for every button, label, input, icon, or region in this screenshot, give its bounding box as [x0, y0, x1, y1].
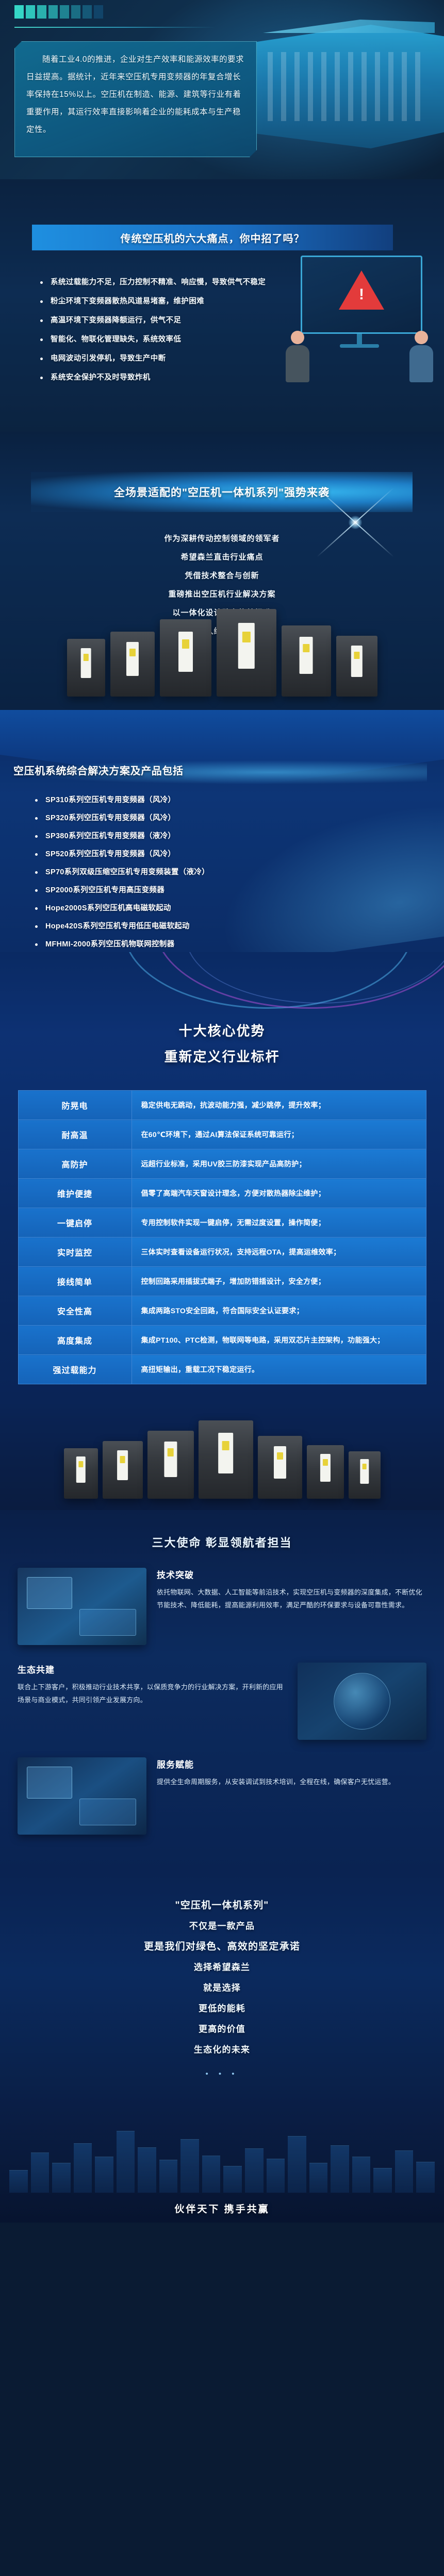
drive-unit — [67, 639, 105, 697]
drive-unit — [349, 1451, 381, 1499]
advantage-row: 耐高温在60℃环境下，通过AI算法保证系统可靠运行； — [18, 1120, 426, 1149]
pain-points-section: 传统空压机的六大痛点，你中招了吗？ 系统过载能力不足，压力控制不精准、响应慢，导… — [0, 179, 444, 432]
mission-heading: 技术突破 — [157, 1568, 426, 1581]
mission-image — [18, 1757, 146, 1835]
globe-icon — [334, 1673, 390, 1730]
mission-body: 提供全生命周期服务，从安装调试到技术培训，全程在线，确保客户无忧运营。 — [157, 1775, 426, 1788]
panel-icon — [79, 1799, 136, 1825]
person-listener — [408, 331, 435, 382]
decor-bar-2 — [37, 5, 46, 19]
mission-block: 技术突破依托物联网、大数据、人工智能等前沿技术，实现空压机与变频器的深度集成，不… — [18, 1568, 426, 1645]
pain-points-title-banner: 传统空压机的六大痛点，你中招了吗？ — [32, 225, 393, 250]
advantages-heading-line2: 重新定义行业标杆 — [0, 1044, 444, 1070]
drive-unit — [147, 1431, 194, 1499]
drive-unit — [160, 619, 211, 697]
building-silhouette — [202, 2156, 221, 2193]
series-tagline: 作为深耕传动控制领域的领军者 — [0, 530, 444, 548]
divider-line — [14, 27, 216, 28]
advantage-key: 强过载能力 — [18, 1355, 131, 1384]
drive-unit — [103, 1441, 143, 1499]
building-silhouette — [331, 2145, 349, 2193]
person-body — [286, 345, 309, 382]
compressor-illustration — [243, 25, 444, 148]
mission-image — [18, 1568, 146, 1645]
drive-unit — [307, 1445, 344, 1499]
product-model-item: SP310系列空压机专用变频器（风冷） — [31, 791, 413, 809]
panel-icon — [79, 1609, 136, 1636]
product-list-title-wrap: 空压机系统综合解决方案及产品包括 — [0, 762, 444, 777]
series-tagline: 希望森兰直击行业痛点 — [0, 548, 444, 567]
building-silhouette — [288, 2136, 306, 2193]
advantages-heading: 十大核心优势 重新定义行业标杆 — [0, 952, 444, 1070]
decor-bar-0 — [14, 5, 24, 19]
warning-illustration — [282, 256, 437, 384]
drive-unit — [336, 636, 377, 697]
infographic-page: 随着工业4.0的推进，企业对生产效率和能源效率的要求日益提高。据统计，近年来空压… — [0, 0, 444, 2223]
person-head — [291, 331, 304, 344]
advantage-value: 远超行业标准，采用UV胶三防漆实现产品高防护； — [131, 1149, 426, 1179]
building-silhouette — [373, 2168, 392, 2193]
closing-line: 更高的价值 — [0, 2019, 444, 2040]
closing-line: 更低的能耗 — [0, 1998, 444, 2019]
product-list-title: 空压机系统综合解决方案及产品包括 — [0, 762, 444, 777]
building-silhouette — [74, 2143, 92, 2193]
decor-bars — [14, 5, 103, 19]
advantage-key: 实时监控 — [18, 1238, 131, 1267]
drive-unit — [258, 1436, 302, 1499]
mission-block: 服务赋能提供全生命周期服务，从安装调试到技术培训，全程在线，确保客户无忧运营。 — [18, 1757, 426, 1835]
series-intro-section: 全场景适配的"空压机一体机系列"强势来袭 作为深耕传动控制领域的领军者希望森兰直… — [0, 432, 444, 710]
missions-section: 三大使命 彰显领航者担当 技术突破依托物联网、大数据、人工智能等前沿技术，实现空… — [0, 1510, 444, 1873]
advantage-value: 集成两路STO安全回路，符合国际安全认证要求； — [131, 1296, 426, 1326]
advantage-key: 一键启停 — [18, 1208, 131, 1238]
mission-text: 生态共建联合上下游客户，积极推动行业技术共享，以保质竞争力的行业解决方案，开利新… — [18, 1663, 287, 1706]
presentation-screen — [301, 256, 422, 334]
mission-image — [298, 1663, 426, 1740]
building-silhouette — [245, 2148, 264, 2193]
closing-line: 就是选择 — [0, 1978, 444, 1998]
closing-line: "空压机一体机系列" — [0, 1895, 444, 1916]
panel-icon — [27, 1767, 72, 1799]
advantage-row: 接线简单控制回路采用插拔式端子，增加防错插设计，安全方便； — [18, 1267, 426, 1296]
mission-body: 依托物联网、大数据、人工智能等前沿技术，实现空压机与变频器的深度集成，不断优化节… — [157, 1586, 426, 1612]
compressor-roof — [248, 20, 435, 33]
building-silhouette — [416, 2162, 435, 2193]
advantage-value: 三体实时查看设备运行状况，支持远程OTA，提高运维效率； — [131, 1238, 426, 1267]
drive-unit — [217, 609, 276, 697]
series-title: 全场景适配的"空压机一体机系列"强势来袭 — [114, 484, 330, 500]
screen-stand — [357, 334, 362, 345]
advantages-heading-line1: 十大核心优势 — [0, 1018, 444, 1044]
building-silhouette — [31, 2153, 50, 2193]
advantage-key: 维护便捷 — [18, 1179, 131, 1208]
decor-bar-5 — [71, 5, 80, 19]
mission-text: 服务赋能提供全生命周期服务，从安装调试到技术培训，全程在线，确保客户无忧运营。 — [157, 1757, 426, 1788]
advantage-value: 高扭矩输出，重载工况下稳定运行。 — [131, 1355, 426, 1384]
advantage-value: 控制回路采用插拔式端子，增加防错插设计，安全方便； — [131, 1267, 426, 1296]
series-title-banner: 全场景适配的"空压机一体机系列"强势来袭 — [31, 472, 413, 512]
decor-bar-3 — [48, 5, 58, 19]
mission-block: 生态共建联合上下游客户，积极推动行业技术共享，以保质竞争力的行业解决方案，开利新… — [18, 1663, 426, 1740]
building-silhouette — [180, 2139, 199, 2193]
building-silhouette — [309, 2163, 328, 2193]
advantage-value: 稳定供电无跳动，抗波动能力强，减少跳停，提升效率； — [131, 1091, 426, 1120]
advantage-row: 安全性高集成两路STO安全回路，符合国际安全认证要求； — [18, 1296, 426, 1326]
advantage-key: 高度集成 — [18, 1326, 131, 1355]
person-head — [415, 331, 428, 344]
drive-unit — [282, 625, 331, 697]
product-lineup-section — [0, 1402, 444, 1510]
advantage-row: 维护便捷倡零了高端汽车天窗设计理念，方便对散热器除尘维护； — [18, 1179, 426, 1208]
building-silhouette — [223, 2166, 242, 2193]
mission-text: 技术突破依托物联网、大数据、人工智能等前沿技术，实现空压机与变频器的深度集成，不… — [157, 1568, 426, 1612]
closing-line: 更是我们对绿色、高效的坚定承诺 — [0, 1937, 444, 1957]
intro-paragraph: 随着工业4.0的推进，企业对生产效率和能源效率的要求日益提高。据统计，近年来空压… — [26, 51, 245, 139]
intro-card: 随着工业4.0的推进，企业对生产效率和能源效率的要求日益提高。据统计，近年来空压… — [14, 41, 257, 157]
decor-bar-7 — [94, 5, 103, 19]
advantage-key: 安全性高 — [18, 1296, 131, 1326]
advantage-key: 接线简单 — [18, 1267, 131, 1296]
screen-base — [340, 344, 379, 348]
decor-bar-1 — [26, 5, 35, 19]
closing-dots: • • • — [0, 2070, 444, 2078]
closing-section: "空压机一体机系列"不仅是一款产品更是我们对绿色、高效的坚定承诺选择希望森兰就是… — [0, 1873, 444, 2094]
drive-lineup-illustration — [0, 599, 444, 697]
panel-icon — [27, 1577, 72, 1609]
advantage-value: 专用控制软件实现一键启停，无需过度设置，操作简便； — [131, 1208, 426, 1238]
advantages-section: 十大核心优势 重新定义行业标杆 防晃电稳定供电无跳动，抗波动能力强，减少跳停，提… — [0, 952, 444, 1402]
series-tagline: 凭借技术整合与创新 — [0, 567, 444, 585]
footer-slogan: 伙伴天下 携手共赢 — [0, 2201, 444, 2215]
drive-unit — [64, 1448, 98, 1499]
mission-heading: 服务赋能 — [157, 1757, 426, 1770]
building-silhouette — [159, 2160, 178, 2193]
advantage-key: 高防护 — [18, 1149, 131, 1179]
decor-bar-6 — [83, 5, 92, 19]
city-skyline-illustration — [0, 2115, 444, 2193]
building-silhouette — [9, 2170, 28, 2193]
advantage-row: 强过载能力高扭矩输出，重载工况下稳定运行。 — [18, 1355, 426, 1384]
advantages-table: 防晃电稳定供电无跳动，抗波动能力强，减少跳停，提升效率；耐高温在60℃环境下，通… — [18, 1090, 426, 1384]
building-silhouette — [117, 2131, 135, 2193]
person-body — [409, 345, 433, 382]
footer-section: 伙伴天下 携手共赢 — [0, 2094, 444, 2223]
advantage-row: 防晃电稳定供电无跳动，抗波动能力强，减少跳停，提升效率； — [18, 1091, 426, 1120]
mission-body: 联合上下游客户，积极推动行业技术共享，以保质竞争力的行业解决方案，开利新的应用场… — [18, 1681, 287, 1706]
pain-points-title: 传统空压机的六大痛点，你中招了吗？ — [121, 230, 305, 245]
missions-title: 三大使命 彰显领航者担当 — [0, 1534, 444, 1550]
advantage-key: 耐高温 — [18, 1120, 131, 1149]
drive-unit — [199, 1420, 253, 1499]
product-list-section: 空压机系统综合解决方案及产品包括 SP310系列空压机专用变频器（风冷）SP32… — [0, 710, 444, 952]
hero-section: 随着工业4.0的推进，企业对生产效率和能源效率的要求日益提高。据统计，近年来空压… — [0, 0, 444, 179]
advantage-value: 集成PT100、PTC检测，物联网等电路，采用双芯片主控架构，功能强大； — [131, 1326, 426, 1355]
person-presenter — [284, 331, 311, 382]
building-silhouette — [95, 2157, 113, 2193]
advantage-value: 在60℃环境下，通过AI算法保证系统可靠运行； — [131, 1120, 426, 1149]
decor-bar-4 — [60, 5, 69, 19]
building-silhouette — [395, 2150, 414, 2193]
mission-heading: 生态共建 — [18, 1663, 287, 1675]
advantage-key: 防晃电 — [18, 1091, 131, 1120]
advantage-row: 实时监控三体实时查看设备运行状况，支持远程OTA，提高运维效率； — [18, 1238, 426, 1267]
building-silhouette — [267, 2159, 285, 2193]
building-silhouette — [352, 2157, 371, 2193]
closing-line: 生态化的未来 — [0, 2040, 444, 2060]
advantage-row: 高防护远超行业标准，采用UV胶三防漆实现产品高防护； — [18, 1149, 426, 1179]
building-silhouette — [138, 2147, 156, 2193]
building-silhouette — [52, 2163, 71, 2193]
advantage-row: 一键启停专用控制软件实现一键启停，无需过度设置，操作简便； — [18, 1208, 426, 1238]
advantage-value: 倡零了高端汽车天窗设计理念，方便对散热器除尘维护； — [131, 1179, 426, 1208]
closing-line: 不仅是一款产品 — [0, 1916, 444, 1937]
warning-triangle-icon — [339, 270, 384, 310]
drive-unit — [110, 632, 155, 697]
advantage-row: 高度集成集成PT100、PTC检测，物联网等电路，采用双芯片主控架构，功能强大； — [18, 1326, 426, 1355]
closing-line: 选择希望森兰 — [0, 1957, 444, 1978]
